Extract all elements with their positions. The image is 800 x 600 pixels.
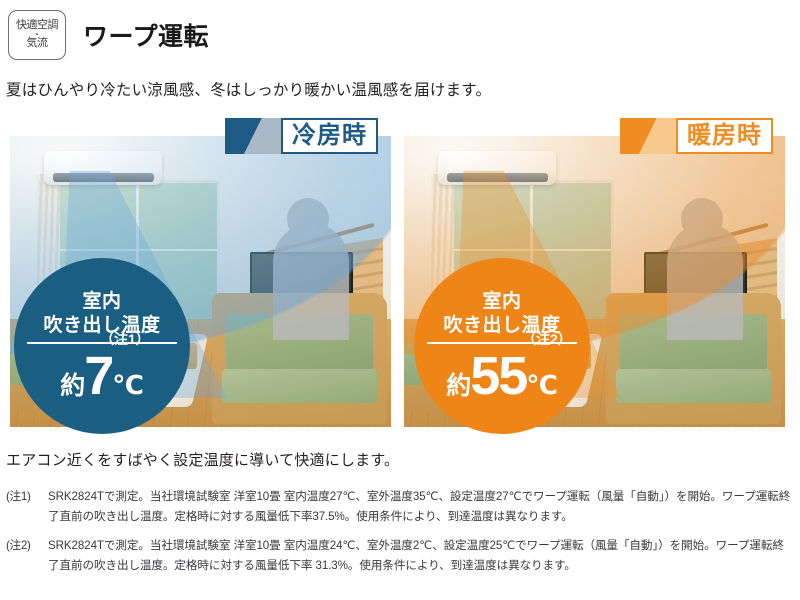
air-conditioner-unit: [438, 151, 556, 186]
footnote-body: SRK2824Tで測定。当社環境試験室 洋室10畳 室内温度27℃、室外温度35…: [48, 487, 794, 527]
mode-tag-heating: 暖房時: [620, 118, 773, 154]
person-silhouette: [667, 223, 743, 339]
mode-tag-wedge-icon: [620, 118, 676, 154]
footnote-body: SRK2824Tで測定。当社環境試験室 洋室10畳 室内温度24℃、室外温度2℃…: [48, 536, 794, 576]
air-conditioner-unit: [44, 151, 162, 186]
footnotes: (注1) SRK2824Tで測定。当社環境試験室 洋室10畳 室内温度27℃、室…: [6, 487, 794, 585]
category-badge-line2: 気流: [27, 38, 48, 50]
temperature-value: 7: [84, 352, 112, 402]
footnote-item: (注2) SRK2824Tで測定。当社環境試験室 洋室10畳 室内温度24℃、室…: [6, 536, 794, 576]
mode-tag-label: 暖房時: [676, 118, 773, 154]
mode-tag-label: 冷房時: [281, 118, 378, 154]
temperature-badge-value-row: 約 7 ℃ （注1）: [60, 346, 144, 402]
summary-caption: エアコン近くをすばやく設定温度に導いて快適にします。: [6, 449, 399, 470]
temperature-badge-value-row: 約 55 ℃ （注2）: [446, 346, 558, 402]
temperature-unit: ℃: [112, 370, 143, 401]
footnote-label: (注2): [6, 536, 48, 576]
temperature-approx-prefix: 約: [446, 366, 470, 402]
temperature-approx-prefix: 約: [60, 366, 84, 402]
page-header: 快適空調 ・ 気流 ワープ運転: [0, 0, 800, 58]
page-title: ワープ運転: [83, 17, 209, 53]
temperature-value: 55: [470, 352, 526, 402]
temperature-badge-cooling: 室内 吹き出し温度 約 7 ℃ （注1）: [14, 258, 190, 434]
mode-tag-wedge-icon: [225, 118, 281, 154]
mode-tag-cooling: 冷房時: [225, 118, 378, 154]
panel-cooling: 冷房時 室内: [10, 112, 391, 430]
temperature-unit: ℃: [526, 370, 557, 401]
footnote-item: (注1) SRK2824Tで測定。当社環境試験室 洋室10畳 室内温度27℃、室…: [6, 487, 794, 527]
lede-text: 夏はひんやり冷たい涼風感、冬はしっかり暖かい温風感を届けます。: [6, 78, 800, 100]
comparison-panels: 冷房時 室内: [0, 112, 800, 432]
temperature-badge-line1: 室内: [43, 290, 160, 313]
temperature-badge-line1: 室内: [443, 290, 560, 313]
temperature-note-ref: （注2）: [522, 329, 572, 349]
category-badge: 快適空調 ・ 気流: [8, 10, 66, 60]
temperature-note-ref: （注1）: [100, 329, 150, 349]
person-silhouette: [273, 223, 349, 339]
footnote-label: (注1): [6, 487, 48, 527]
temperature-badge-heating: 室内 吹き出し温度 約 55 ℃ （注2）: [414, 258, 590, 434]
panel-heating: 暖房時 室内: [404, 112, 785, 430]
